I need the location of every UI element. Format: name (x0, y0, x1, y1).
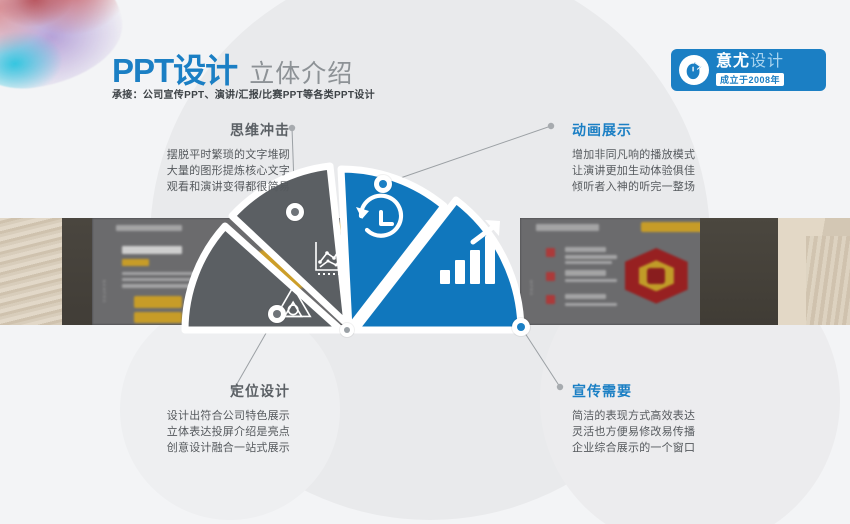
chart-node-top-right[interactable] (374, 175, 392, 193)
callout-bottom-left: 定位设计 设计出符合公司特色展示 立体表达投屏介绍是亮点 创意设计融合一站式展示 (75, 381, 290, 456)
callout-bottom-right: 宣传需要 简洁的表现方式高效表达 灵活也方便易修改易传播 企业综合展示的一个窗口 (572, 381, 787, 456)
callout-heading: 定位设计 (75, 381, 290, 401)
callout-line: 让演讲更加生动体验俱佳 (572, 163, 787, 179)
callout-heading: 宣传需要 (572, 381, 787, 401)
callout-line: 观看和演讲变得都很简易 (75, 179, 290, 195)
callout-line: 倾听者入神的听完一整场 (572, 179, 787, 195)
chart-node-bottom-left[interactable] (268, 305, 286, 323)
callout-line: 摆脱平时繁琐的文字堆砌 (75, 147, 290, 163)
callout-line: 增加非同凡响的播放模式 (572, 147, 787, 163)
callout-heading: 动画展示 (572, 120, 787, 140)
slide-canvas: BAMPRO (0, 0, 850, 524)
chart-node-top-left[interactable] (286, 203, 304, 221)
callout-line: 灵活也方便易修改易传播 (572, 424, 787, 440)
callout-heading: 思维冲击 (75, 120, 290, 140)
callout-line: 大量的图形提炼核心文字 (75, 163, 290, 179)
callout-line: 创意设计融合一站式展示 (75, 440, 290, 456)
callout-line: 企业综合展示的一个窗口 (572, 440, 787, 456)
callout-line: 简洁的表现方式高效表达 (572, 408, 787, 424)
callout-top-right: 动画展示 增加非同凡响的播放模式 让演讲更加生动体验俱佳 倾听者入神的听完一整场 (572, 120, 787, 195)
callout-line: 立体表达投屏介绍是亮点 (75, 424, 290, 440)
callout-top-left: 思维冲击 摆脱平时繁琐的文字堆砌 大量的图形提炼核心文字 观看和演讲变得都很简易 (75, 120, 290, 195)
callout-line: 设计出符合公司特色展示 (75, 408, 290, 424)
chart-node-hub (340, 323, 354, 337)
chart-node-bottom-right[interactable] (512, 318, 530, 336)
